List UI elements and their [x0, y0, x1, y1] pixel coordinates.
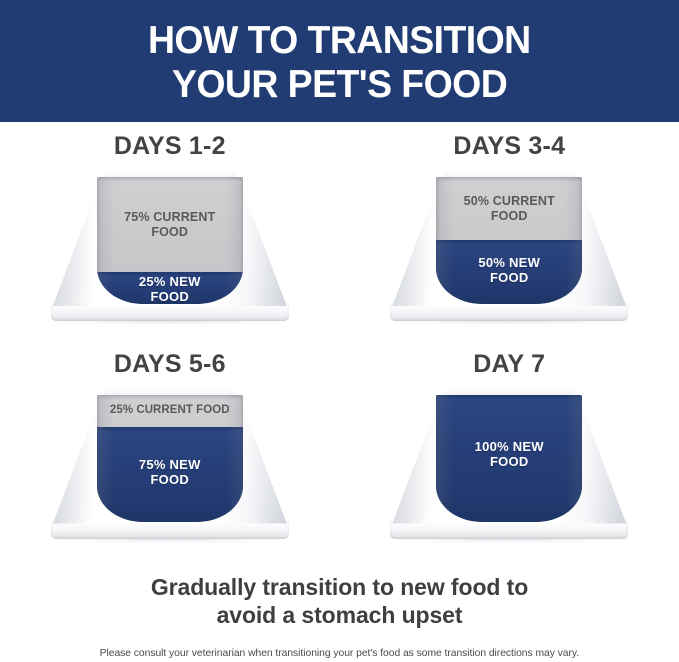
new-food-label: 25% NEW FOOD [97, 274, 243, 304]
stage-card-day-7: DAY 7 100% NEW FOOD [340, 350, 679, 568]
food-bowl-day-7: 100% NEW FOOD [384, 388, 634, 543]
current-food-label: 75% CURRENT FOOD [97, 210, 243, 239]
footer-disclaimer: Please consult your veterinarian when tr… [100, 646, 579, 660]
footer: Gradually transition to new food to avoi… [0, 567, 679, 660]
food-bowl-days-5-6: 25% CURRENT FOOD 75% NEW FOOD [45, 388, 295, 543]
footer-headline: Gradually transition to new food to avoi… [151, 573, 528, 629]
current-food-label: 25% CURRENT FOOD [97, 404, 243, 417]
bowl-food-well: 75% CURRENT FOOD 25% NEW FOOD [97, 177, 243, 304]
page-title-line-2: YOUR PET'S FOOD [172, 63, 507, 107]
page-title-line-1: HOW TO TRANSITION [148, 19, 531, 63]
stage-label-days-1-2: DAYS 1-2 [114, 132, 226, 160]
new-food-label: 75% NEW FOOD [97, 457, 243, 487]
new-food-label: 50% NEW FOOD [436, 255, 582, 285]
stage-label-days-3-4: DAYS 3-4 [453, 132, 565, 160]
header-banner: HOW TO TRANSITION YOUR PET'S FOOD [0, 0, 679, 122]
new-food-label: 100% NEW FOOD [436, 439, 582, 469]
stage-label-days-5-6: DAYS 5-6 [114, 350, 226, 378]
food-bowl-days-3-4: 50% CURRENT FOOD 50% NEW FOOD [384, 170, 634, 325]
transition-stage-grid: DAYS 1-2 75% CURRENT FOOD 25% NEW FOOD D… [0, 122, 679, 567]
stage-card-days-3-4: DAYS 3-4 50% CURRENT FOOD 50% NEW FOOD [340, 132, 679, 350]
bowl-food-well: 50% CURRENT FOOD 50% NEW FOOD [436, 177, 582, 304]
stage-card-days-1-2: DAYS 1-2 75% CURRENT FOOD 25% NEW FOOD [0, 132, 340, 350]
stage-label-day-7: DAY 7 [473, 350, 545, 378]
food-bowl-days-1-2: 75% CURRENT FOOD 25% NEW FOOD [45, 170, 295, 325]
bowl-food-well: 100% NEW FOOD [436, 395, 582, 522]
current-food-label: 50% CURRENT FOOD [436, 194, 582, 223]
bowl-food-well: 25% CURRENT FOOD 75% NEW FOOD [97, 395, 243, 522]
stage-card-days-5-6: DAYS 5-6 25% CURRENT FOOD 75% NEW FOOD [0, 350, 340, 568]
